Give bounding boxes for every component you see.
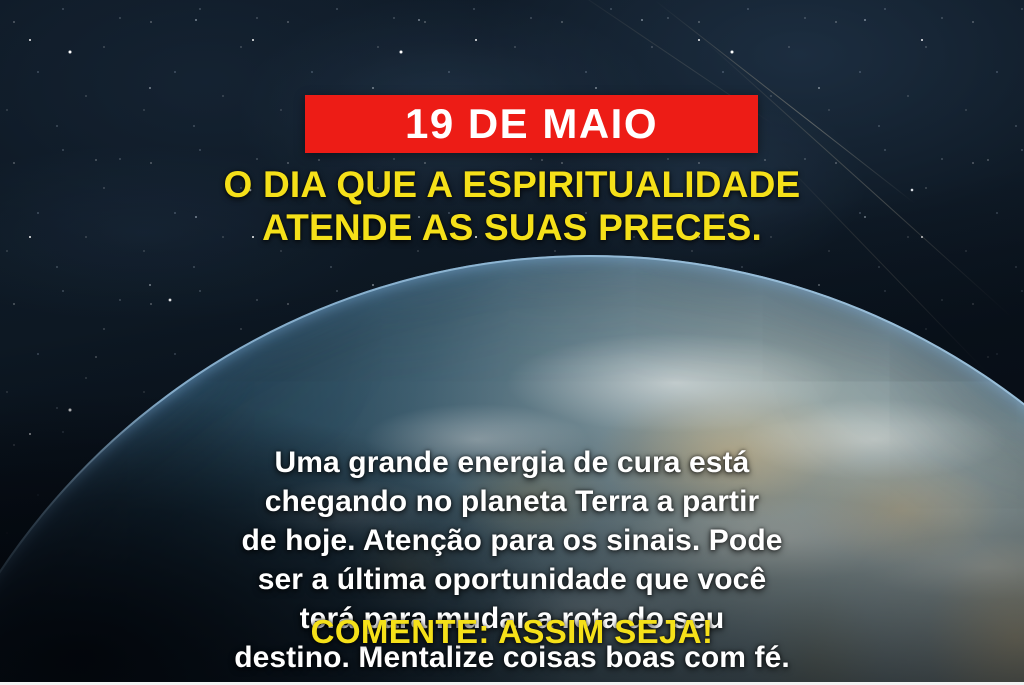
date-banner-label: 19 DE MAIO <box>405 103 658 145</box>
body-line-4: ser a última oportunidade que você <box>0 560 1024 599</box>
headline-line-2: ATENDE AS SUAS PRECES. <box>0 206 1024 249</box>
headline: O DIA QUE A ESPIRITUALIDADE ATENDE AS SU… <box>0 163 1024 250</box>
headline-line-1: O DIA QUE A ESPIRITUALIDADE <box>0 163 1024 206</box>
body-line-3: de hoje. Atenção para os sinais. Pode <box>0 521 1024 560</box>
poster-content: 19 DE MAIO O DIA QUE A ESPIRITUALIDADE A… <box>0 0 1024 685</box>
date-banner: 19 DE MAIO <box>305 95 758 153</box>
poster-canvas: 19 DE MAIO O DIA QUE A ESPIRITUALIDADE A… <box>0 0 1024 685</box>
body-line-2: chegando no planeta Terra a partir <box>0 482 1024 521</box>
call-to-action-text: COMENTE: ASSIM SEJA! <box>0 614 1024 650</box>
body-line-1: Uma grande energia de cura está <box>0 443 1024 482</box>
